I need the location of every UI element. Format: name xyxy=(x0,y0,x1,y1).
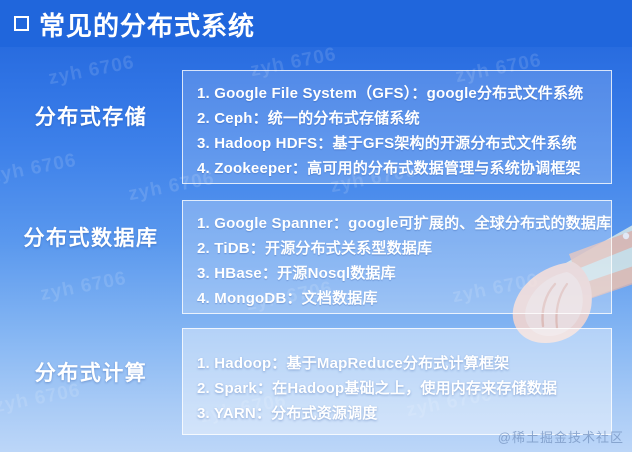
list-item: 4. MongoDB：文档数据库 xyxy=(197,286,599,311)
category-label-database: 分布式数据库 xyxy=(0,222,182,252)
list-item: 3. Hadoop HDFS：基于GFS架构的开源分布式文件系统 xyxy=(197,131,599,156)
page-title-text: 常见的分布式系统 xyxy=(39,11,255,41)
list-item: 2. TiDB：开源分布式关系型数据库 xyxy=(197,236,599,261)
category-label-storage: 分布式存储 xyxy=(0,101,182,131)
slide-header: 常见的分布式系统 xyxy=(0,0,632,47)
list-item: 2. Ceph：统一的分布式存储系统 xyxy=(197,106,599,131)
watermark-tile: zyh 6706 xyxy=(39,268,129,306)
list-item: 2. Spark：在Hadoop基础之上，使用内存来存储数据 xyxy=(197,376,599,401)
distributed-compute-box: 1. Hadoop：基于MapReduce分布式计算框架 2. Spark：在H… xyxy=(182,328,612,435)
watermark-tile: zyh 6706 xyxy=(0,150,79,188)
list-item: 4. Zookeeper：高可用的分布式数据管理与系统协调框架 xyxy=(197,156,599,181)
corner-watermark: @稀土掘金技术社区 xyxy=(498,427,624,446)
page-title: 常见的分布式系统 xyxy=(14,6,255,43)
list-item: 1. Google Spanner：google可扩展的、全球分布式的数据库 xyxy=(197,211,599,236)
list-item: 3. HBase：开源Nosql数据库 xyxy=(197,261,599,286)
distributed-storage-box: 1. Google File System（GFS）：google分布式文件系统… xyxy=(182,70,612,184)
list-item: 1. Hadoop：基于MapReduce分布式计算框架 xyxy=(197,351,599,376)
category-label-compute: 分布式计算 xyxy=(0,357,182,387)
distributed-database-box: 1. Google Spanner：google可扩展的、全球分布式的数据库 2… xyxy=(182,200,612,314)
list-item: 1. Google File System（GFS）：google分布式文件系统 xyxy=(197,81,599,106)
square-outline-icon xyxy=(14,16,29,31)
watermark-tile: zyh 6706 xyxy=(47,52,137,90)
list-item: 3. YARN：分布式资源调度 xyxy=(197,401,599,426)
slide-canvas: zyh 6706 zyh 6706 zyh 6706 zyh 6706 zyh … xyxy=(0,0,632,452)
